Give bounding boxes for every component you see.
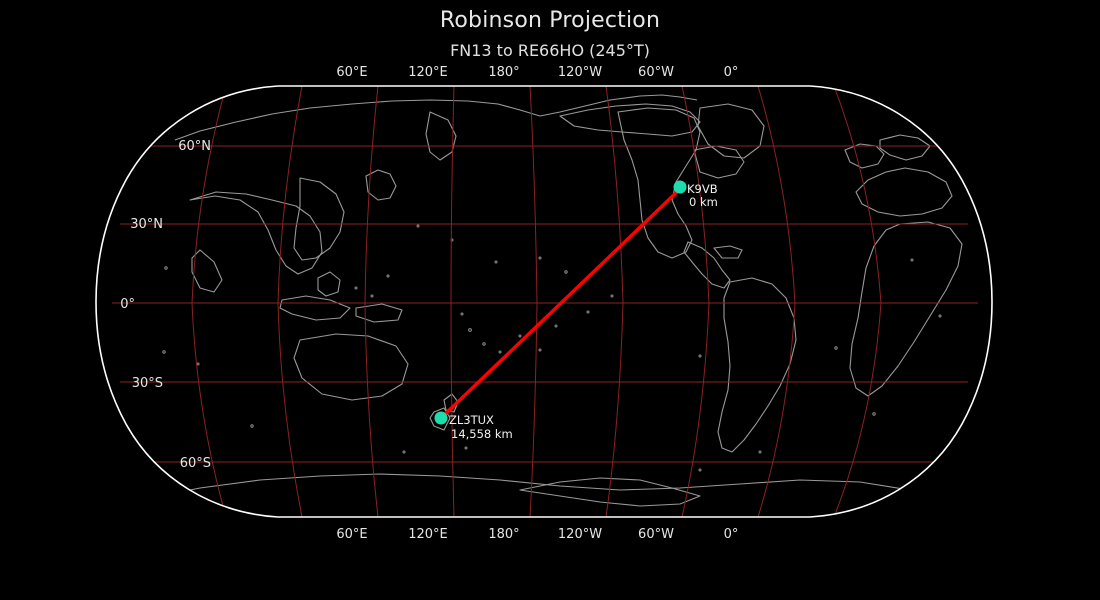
lon-tick-top-0: 60°E	[336, 65, 367, 80]
lon-tick-top-5: 0°	[724, 65, 739, 80]
lon-tick-bottom-3: 120°W	[558, 527, 602, 542]
lon-tick-bottom-0: 60°E	[336, 527, 367, 542]
lon-tick-bottom-2: 180°	[488, 527, 519, 542]
lon-tick-bottom-5: 0°	[724, 527, 739, 542]
lon-tick-bottom-1: 120°E	[408, 527, 448, 542]
map-body	[90, 80, 1000, 525]
map-canvas[interactable]: K9VB 0 km ZL3TUX 14,558 km 60°E 120°E 18…	[0, 0, 1100, 600]
lat-tick-0: 60°N	[178, 139, 211, 154]
lon-tick-top-2: 180°	[488, 65, 519, 80]
marker-k9vb-distance: 0 km	[689, 195, 718, 209]
lon-ticks-bottom: 60°E 120°E 180° 120°W 60°W 0°	[336, 527, 738, 542]
lon-tick-top-4: 60°W	[638, 65, 674, 80]
lon-tick-bottom-4: 60°W	[638, 527, 674, 542]
lat-tick-1: 30°N	[130, 217, 163, 232]
marker-k9vb[interactable]	[674, 181, 687, 194]
lon-tick-top-1: 120°E	[408, 65, 448, 80]
marker-zl3tux[interactable]	[435, 412, 448, 425]
marker-zl3tux-label: ZL3TUX	[449, 413, 494, 427]
lon-tick-top-3: 120°W	[558, 65, 602, 80]
map-figure: Robinson Projection FN13 to RE66HO (245°…	[0, 0, 1100, 600]
marker-k9vb-label: K9VB	[687, 182, 718, 196]
lon-ticks-top: 60°E 120°E 180° 120°W 60°W 0°	[336, 65, 738, 80]
marker-zl3tux-distance: 14,558 km	[451, 427, 513, 441]
map-svg[interactable]: K9VB 0 km ZL3TUX 14,558 km 60°E 120°E 18…	[0, 0, 1100, 600]
lat-tick-4: 60°S	[180, 456, 211, 471]
lat-tick-2: 0°	[120, 297, 135, 312]
lat-tick-3: 30°S	[132, 376, 163, 391]
